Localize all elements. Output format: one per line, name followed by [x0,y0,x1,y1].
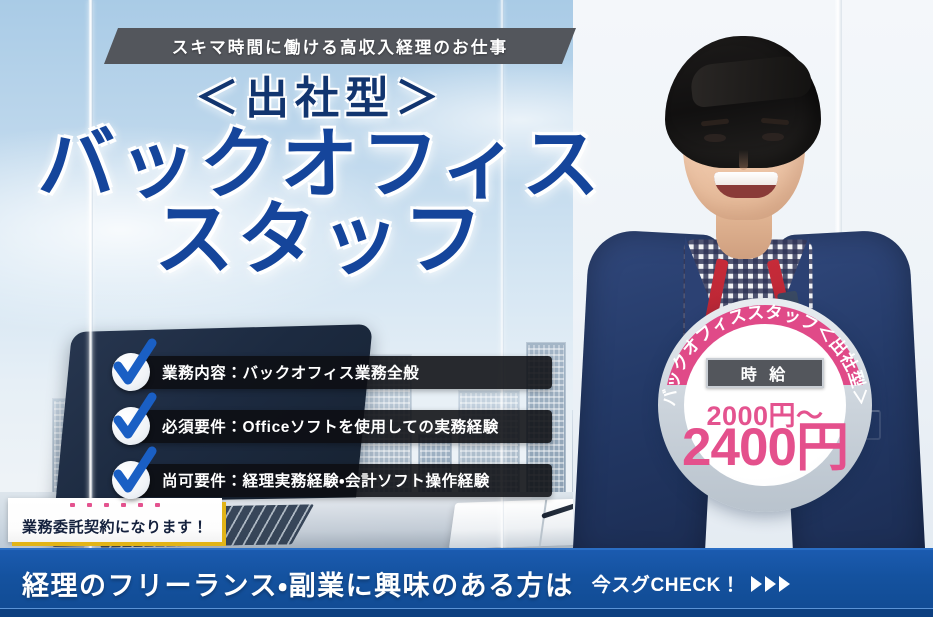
badge-arc-text: バックオフィススタッフ＜出社型＞ [660,303,871,408]
wage-amount-text: 2400円 [658,421,872,474]
requirements-checklist: 業務内容：バックオフィス業務全般 必須要件：Officeソフトを使用しての実務経… [112,352,552,514]
top-ribbon-text: スキマ時間に働ける高収入経理のお仕事 [172,34,509,58]
check-circle-icon [112,353,150,391]
triangle-arrows-icon [751,576,790,592]
contract-note-text: 業務委託契約になります！ [22,516,208,537]
tag-dots-decoration [8,503,222,507]
bottom-bar-main-text: 経理のフリーランス・副業に興味のある方は [22,564,574,603]
checklist-item-text: 尚可要件：経理実務経験・会計ソフト操作経験 [162,469,490,491]
eye-right [762,133,784,141]
wage-label-box: 時 給 [706,358,824,388]
cta-text: 今スグCHECK！ [592,570,741,597]
checklist-item: 必須要件：Officeソフトを使用しての実務経験 [112,406,552,446]
svg-text:バックオフィススタッフ＜出社型＞: バックオフィススタッフ＜出社型＞ [660,303,871,408]
cta-group[interactable]: 今スグCHECK！ [592,570,790,597]
top-ribbon: スキマ時間に働ける高収入経理のお仕事 [104,28,576,64]
smiling-mouth [714,172,778,198]
check-circle-icon [112,461,150,499]
checklist-item: 業務内容：バックオフィス業務全般 [112,352,552,392]
window-frame-line [500,0,504,617]
checklist-item: 尚可要件：経理実務経験・会計ソフト操作経験 [112,460,552,500]
eye-left [704,134,726,142]
checklist-item-text: 業務内容：バックオフィス業務全般 [162,361,419,383]
checklist-item-text: 必須要件：Officeソフトを使用しての実務経験 [162,415,499,437]
job-ad-banner: スキマ時間に働ける高収入経理のお仕事 ＜出社型＞ バックオフィス スタッフ 業務… [0,0,933,617]
bottom-cta-bar[interactable]: 経理のフリーランス・副業に興味のある方は 今スグCHECK！ [0,548,933,617]
nose [739,150,748,170]
check-circle-icon [112,407,150,445]
contract-note-tag: 業務委託契約になります！ [8,498,222,542]
wage-badge: バックオフィススタッフ＜出社型＞ 時 給 2000円〜 2400円 [658,298,872,512]
